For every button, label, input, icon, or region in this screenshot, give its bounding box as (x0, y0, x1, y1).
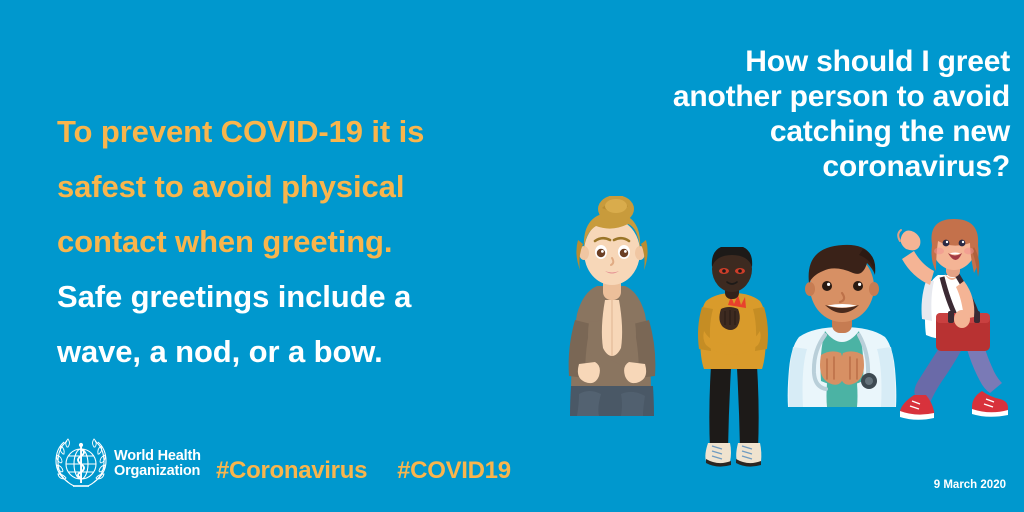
body-copy: To prevent COVID-19 it is safest to avoi… (57, 104, 527, 379)
headline-line-4: coronavirus? (540, 149, 1010, 184)
who-wordmark-line-1: World Health (114, 449, 201, 464)
headline-line-3: catching the new (540, 114, 1010, 149)
body-line-1: To prevent COVID-19 it is (57, 104, 527, 159)
date-stamp: 9 March 2020 (934, 479, 1006, 491)
figure-hand-on-heart-greeting (688, 247, 780, 475)
hashtag-group: #Coronavirus #COVID19 (216, 457, 511, 485)
figure-doctor-hands-on-chest (785, 243, 899, 423)
who-covid-infographic: How should I greet another person to avo… (0, 0, 1024, 512)
body-line-4: Safe greetings include a (57, 269, 527, 324)
body-line-2: safest to avoid physical (57, 159, 527, 214)
headline: How should I greet another person to avo… (540, 44, 1010, 184)
hashtag-coronavirus: #Coronavirus (216, 457, 367, 485)
headline-line-2: another person to avoid (540, 79, 1010, 114)
hashtag-covid19: #COVID19 (397, 457, 511, 485)
who-logo: World Health Organization (55, 438, 201, 490)
who-emblem-icon (55, 438, 107, 490)
who-wordmark-line-2: Organization (114, 464, 201, 479)
who-wordmark: World Health Organization (114, 449, 201, 479)
figure-namaste-greeting (549, 196, 675, 424)
body-line-3: contact when greeting. (57, 214, 527, 269)
headline-line-1: How should I greet (540, 44, 1010, 79)
figure-waving-greeting (894, 219, 1010, 435)
body-line-5: wave, a nod, or a bow. (57, 324, 527, 379)
